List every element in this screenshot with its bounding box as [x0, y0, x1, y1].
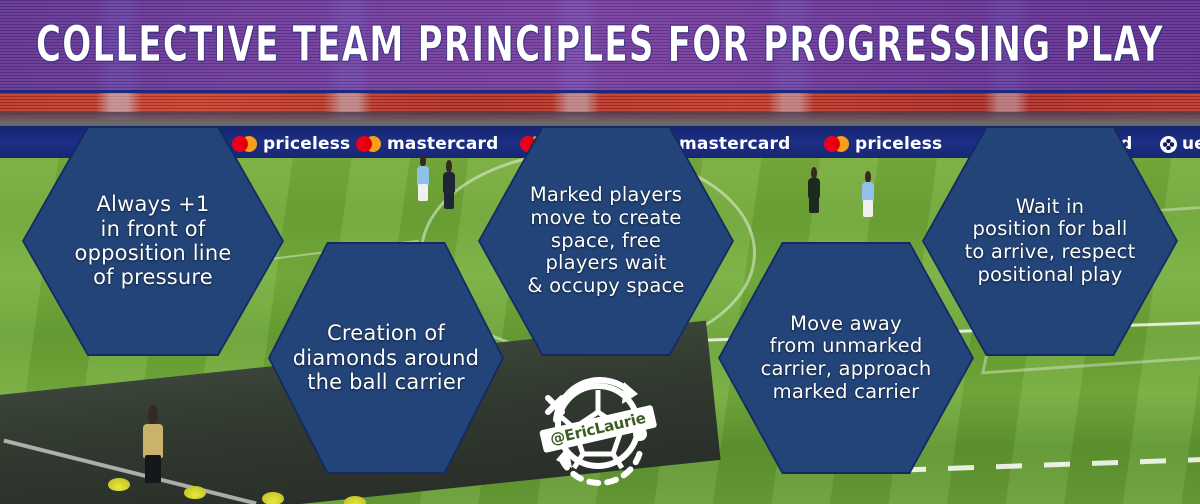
hexagon-label: Marked players move to create space, fre… — [519, 184, 692, 297]
hexagon-label: Move away from unmarked carrier, approac… — [753, 313, 940, 403]
led-ad-mastercard-1: mastercard — [356, 134, 498, 154]
led-ad-uefa: uefa — [1160, 134, 1200, 154]
mastercard-circles-icon — [356, 136, 382, 152]
led-ad-label: priceless — [263, 134, 350, 154]
led-ad-label: priceless — [855, 134, 942, 154]
led-ad-priceless-1: priceless — [232, 134, 350, 154]
player-silhouette — [443, 172, 455, 208]
page-title: COLLECTIVE TEAM PRINCIPLES FOR PROGRESSI… — [36, 17, 1164, 73]
hexagon-label: Creation of diamonds around the ball car… — [285, 321, 487, 394]
player-silhouette-substitute — [143, 424, 163, 482]
led-ad-label: mastercard — [387, 134, 498, 154]
hexagon-label: Wait in position for ball to arrive, res… — [957, 196, 1144, 286]
led-ad-label: mastercard — [679, 134, 790, 154]
mastercard-circles-icon — [824, 136, 850, 152]
player-silhouette — [862, 182, 874, 216]
uefa-champions-league-star-icon — [1160, 136, 1177, 153]
led-ad-label: uefa — [1182, 134, 1200, 154]
player-silhouette — [417, 166, 429, 200]
watermark-logo[interactable]: @EricLaurie — [528, 364, 668, 494]
training-cone — [262, 492, 284, 504]
hexagon-label: Always +1 in front of opposition line of… — [67, 192, 240, 289]
training-cone — [184, 486, 206, 499]
training-cone — [108, 478, 130, 491]
player-silhouette — [808, 178, 820, 212]
slide-canvas: priceless mastercard priceless mastercar… — [0, 0, 1200, 504]
title-banner: COLLECTIVE TEAM PRINCIPLES FOR PROGRESSI… — [0, 0, 1200, 93]
mastercard-circles-icon — [232, 136, 258, 152]
training-cone — [344, 496, 366, 504]
led-ad-priceless-3: priceless — [824, 134, 942, 154]
